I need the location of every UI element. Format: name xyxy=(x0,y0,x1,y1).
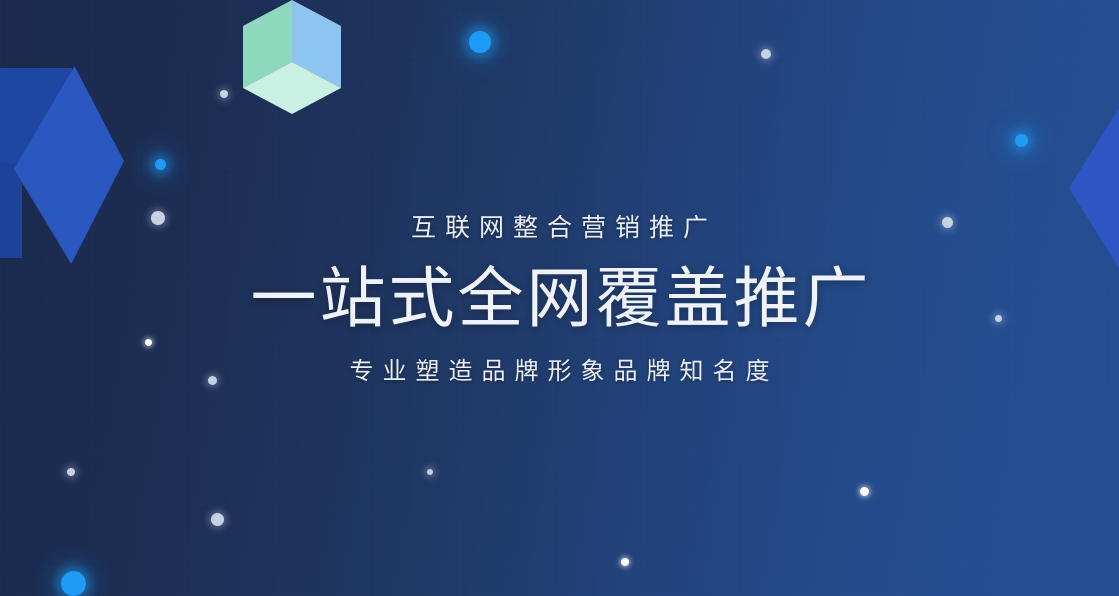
particle-dot xyxy=(860,487,869,496)
banner-eyebrow: 互联网整合营销推广 xyxy=(0,213,1119,243)
particle-dot xyxy=(761,49,771,59)
particle-dot xyxy=(427,469,433,475)
banner-tagline: 专业塑造品牌形象品牌知名度 xyxy=(0,358,1119,387)
isometric-cube-icon xyxy=(243,0,341,120)
particle-dot xyxy=(1015,134,1028,147)
banner-copy: 互联网整合营销推广 一站式全网覆盖推广 专业塑造品牌形象品牌知名度 xyxy=(0,213,1119,387)
particle-dot xyxy=(220,90,228,98)
particle-dot xyxy=(155,159,166,170)
particle-dot xyxy=(61,571,86,596)
particle-dot xyxy=(469,31,491,53)
particle-dot xyxy=(67,468,75,476)
particle-dot xyxy=(621,558,629,566)
banner-headline: 一站式全网覆盖推广 xyxy=(0,264,1119,333)
promo-banner: 互联网整合营销推广 一站式全网覆盖推广 专业塑造品牌形象品牌知名度 xyxy=(0,0,1119,596)
particle-dot xyxy=(211,513,224,526)
